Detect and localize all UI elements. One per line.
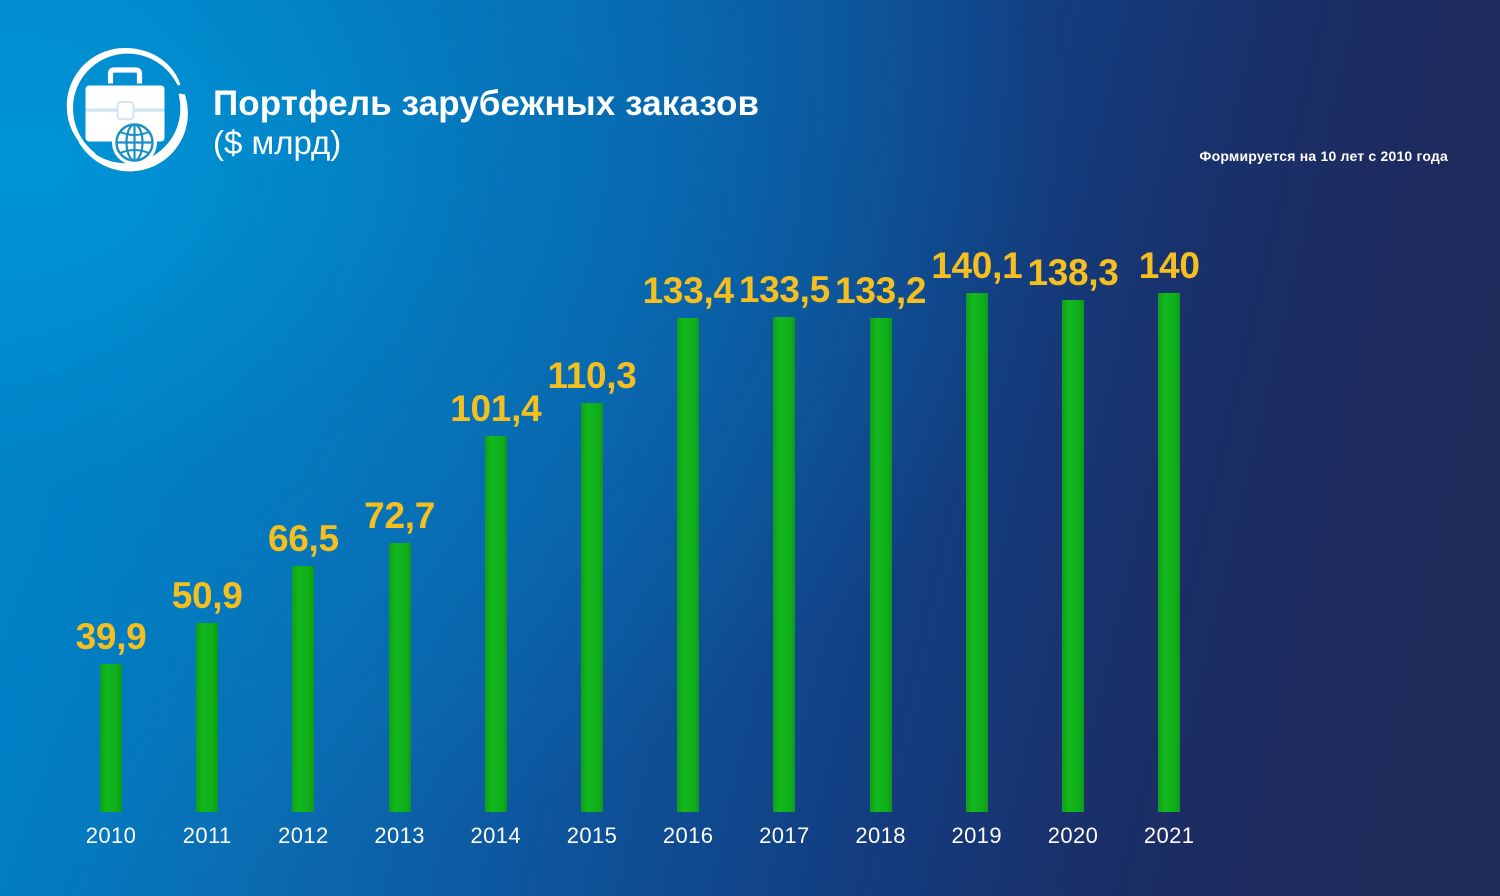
bar-group: 72,7 [352,483,448,812]
bar-group: 133,4 [640,258,736,812]
bar-value-label: 138,3 [1025,252,1121,294]
bar-group: 133,2 [833,258,929,812]
bar-value-label: 133,5 [736,269,832,311]
x-axis-label: 2017 [736,823,832,849]
bar-group: 50,9 [159,563,255,812]
bar [966,293,988,812]
x-axis-label: 2012 [255,823,351,849]
bar [389,543,411,812]
bar [1158,293,1180,812]
x-axis-label: 2021 [1121,823,1217,849]
x-axis-label: 2020 [1025,823,1121,849]
bar [485,436,507,812]
bar-value-label: 72,7 [352,495,448,537]
bar-value-label: 140,1 [929,245,1025,287]
bar-value-label: 140 [1121,245,1217,287]
bar [677,318,699,812]
bar [870,318,892,812]
bar [196,623,218,812]
bar-value-label: 110,3 [544,355,640,397]
x-axis-label: 2018 [833,823,929,849]
bar-group: 66,5 [255,506,351,812]
bar [292,566,314,812]
infographic-canvas: Портфель зарубежных заказов ($ млрд) Фор… [0,0,1500,896]
bar-value-label: 50,9 [159,575,255,617]
bar-value-label: 66,5 [255,518,351,560]
bar [773,317,795,812]
x-axis-label: 2019 [929,823,1025,849]
x-axis-label: 2014 [448,823,544,849]
bar [581,403,603,812]
bar-value-label: 133,4 [640,270,736,312]
bar-chart: 39,9201050,9201166,5201272,72013101,4201… [0,0,1500,896]
bar-group: 39,9 [63,604,159,812]
bar [1062,300,1084,812]
bar-group: 101,4 [448,376,544,812]
bar-value-label: 133,2 [833,270,929,312]
x-axis-label: 2010 [63,823,159,849]
x-axis-label: 2016 [640,823,736,849]
bar-group: 133,5 [736,257,832,812]
bar-value-label: 101,4 [448,388,544,430]
bar-group: 138,3 [1025,240,1121,812]
bar-group: 140,1 [929,233,1025,812]
bar-group: 110,3 [544,343,640,812]
x-axis-label: 2015 [544,823,640,849]
bar-value-label: 39,9 [63,616,159,658]
x-axis-label: 2011 [159,823,255,849]
bar [100,664,122,812]
x-axis-label: 2013 [352,823,448,849]
bar-group: 140 [1121,233,1217,812]
